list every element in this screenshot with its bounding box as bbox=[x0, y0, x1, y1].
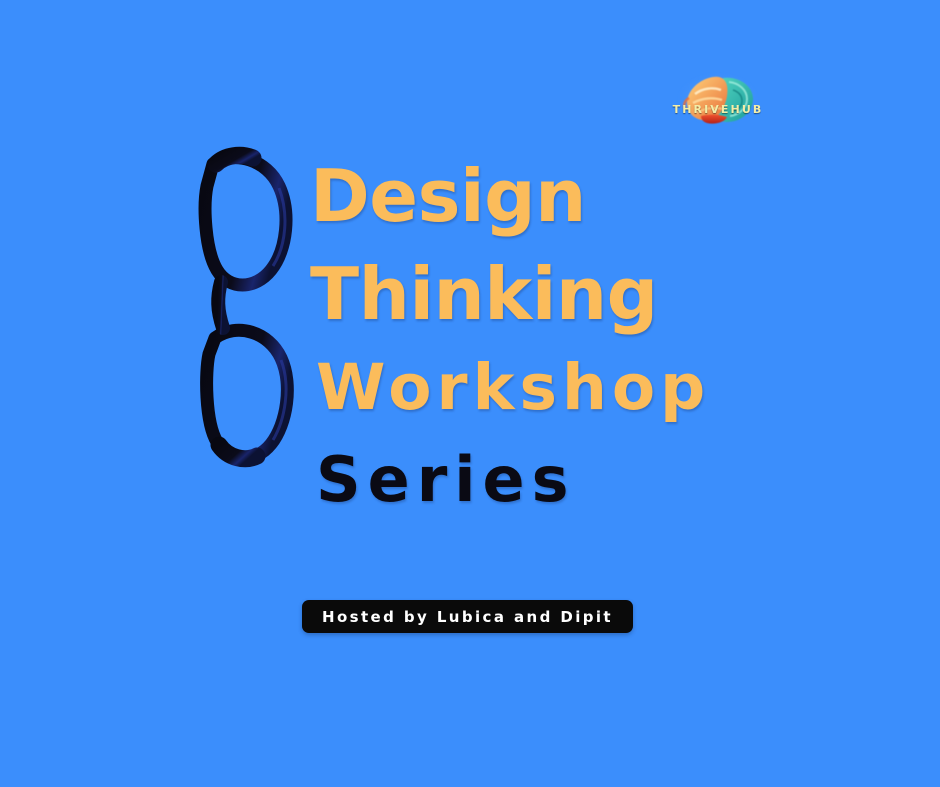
hosted-by-text: Hosted by Lubica and Dipit bbox=[322, 608, 613, 626]
event-poster: THRIVEHUB Design bbox=[0, 0, 940, 787]
headline-line-thinking: Thinking bbox=[310, 258, 910, 330]
brain-logo-icon bbox=[677, 72, 759, 126]
headline-line-workshop: Workshop bbox=[316, 356, 910, 419]
eyeglasses-icon bbox=[183, 142, 318, 472]
headline-line-design: Design bbox=[310, 160, 910, 232]
brand-wordmark: THRIVEHUB bbox=[663, 103, 773, 116]
hosted-by-banner: Hosted by Lubica and Dipit bbox=[302, 600, 633, 633]
brand-logo: THRIVEHUB bbox=[663, 72, 773, 134]
headline-line-series: Series bbox=[316, 449, 910, 511]
poster-headline: Design Thinking Workshop Series bbox=[310, 160, 910, 511]
